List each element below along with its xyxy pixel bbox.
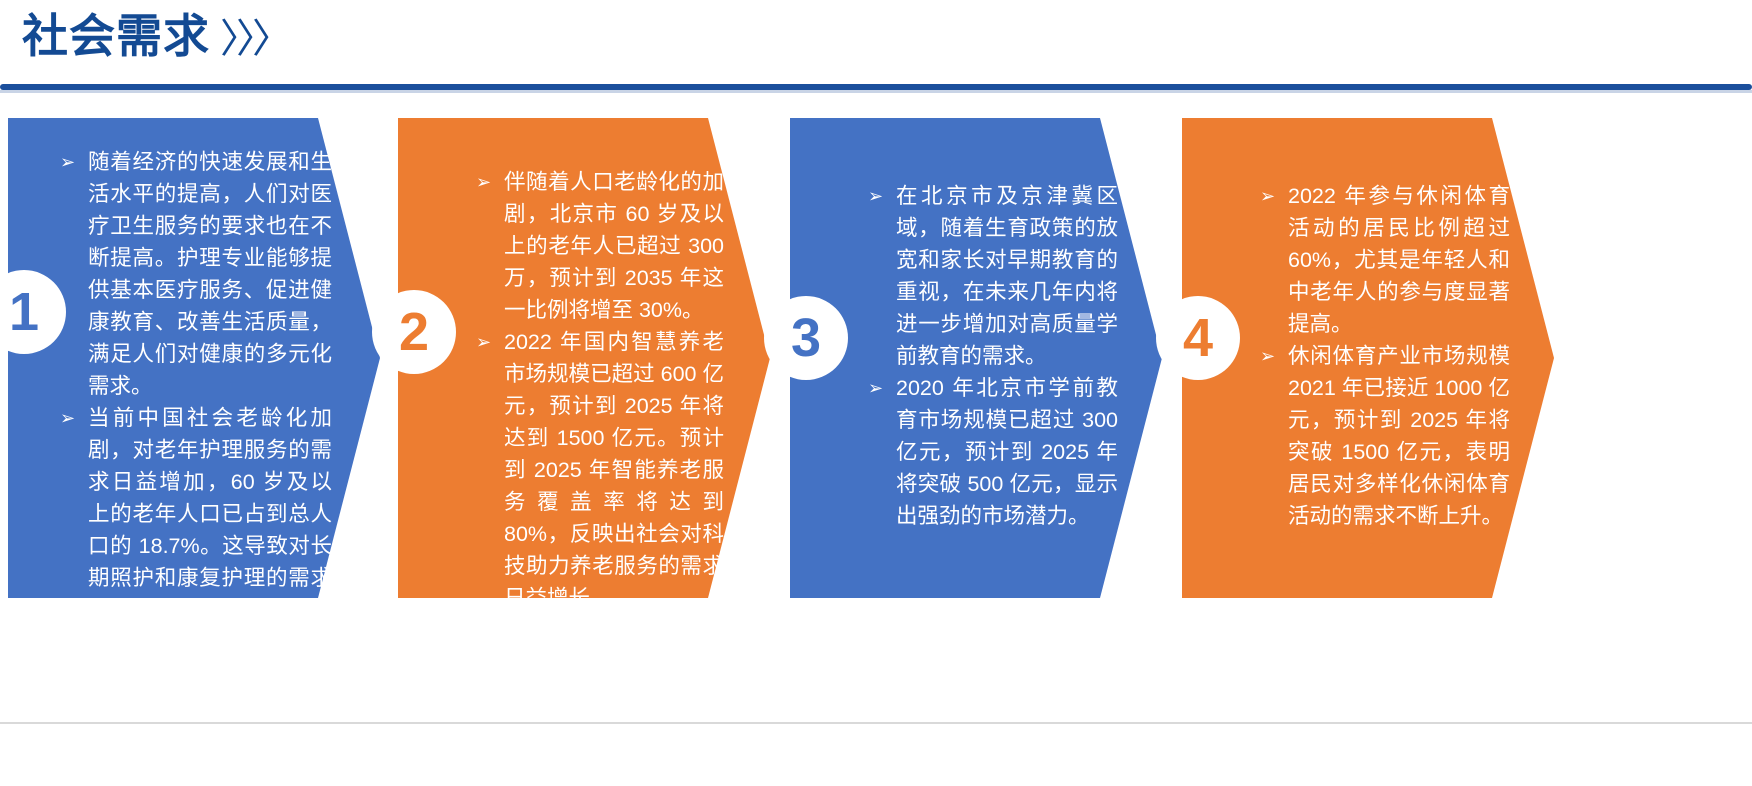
chevron-panel-1[interactable]: ➢随着经济的快速发展和生活水平的提高，人们对医疗卫生服务的要求也在不断提高。护理… — [8, 118, 380, 598]
bullet-text: 2022 年参与休闲体育活动的居民比例超过 60%，尤其是年轻人和中老年人的参与… — [1288, 184, 1510, 336]
bullet-item: ➢当前中国社会老龄化加剧，对老年护理服务的需求日益增加，60 岁及以上的老年人口… — [60, 402, 332, 786]
page-title: 社会需求〉〉〉 — [22, 8, 288, 67]
bullet-item: ➢伴随着人口老龄化的加剧，北京市 60 岁及以上的老年人已超过 300 万，预计… — [476, 166, 724, 326]
page-title-text: 社会需求 — [22, 10, 210, 62]
bullet-item: ➢2020 年北京市学前教育市场规模已超过 300 亿元，预计到 2025 年将… — [868, 372, 1118, 532]
bullet-text: 在北京市及京津冀区域，随着生育政策的放宽和家长对早期教育的重视，在未来几年内将进… — [896, 184, 1118, 368]
chevron-panel-3[interactable]: ➢在北京市及京津冀区域，随着生育政策的放宽和家长对早期教育的重视，在未来几年内将… — [790, 118, 1162, 598]
bullet-item: ➢2022 年国内智慧养老市场规模已超过 600 亿元，预计到 2025 年将达… — [476, 326, 724, 614]
bullet-marker-icon: ➢ — [868, 180, 883, 212]
bullet-marker-icon: ➢ — [1260, 340, 1275, 372]
bullet-text: 当前中国社会老龄化加剧，对老年护理服务的需求日益增加，60 岁及以上的老年人口已… — [88, 406, 332, 782]
chevron-right-icon: 〉〉〉 — [220, 17, 288, 61]
bullet-item: ➢在北京市及京津冀区域，随着生育政策的放宽和家长对早期教育的重视，在未来几年内将… — [868, 180, 1118, 372]
bullet-marker-icon: ➢ — [1260, 180, 1275, 212]
bullet-item: ➢2022 年参与休闲体育活动的居民比例超过 60%，尤其是年轻人和中老年人的参… — [1260, 180, 1510, 340]
bullet-item: ➢休闲体育产业市场规模 2021 年已接近 1000 亿元，预计到 2025 年… — [1260, 340, 1510, 532]
bullet-text: 随着经济的快速发展和生活水平的提高，人们对医疗卫生服务的要求也在不断提高。护理专… — [88, 150, 332, 398]
chevron-panel-2[interactable]: ➢伴随着人口老龄化的加剧，北京市 60 岁及以上的老年人已超过 300 万，预计… — [398, 118, 770, 598]
bullet-text: 伴随着人口老龄化的加剧，北京市 60 岁及以上的老年人已超过 300 万，预计到… — [504, 170, 724, 322]
bullet-marker-icon: ➢ — [476, 166, 491, 198]
panel-4-text: ➢2022 年参与休闲体育活动的居民比例超过 60%，尤其是年轻人和中老年人的参… — [1260, 180, 1510, 532]
bullet-marker-icon: ➢ — [476, 326, 491, 358]
slide-header: 社会需求〉〉〉 — [0, 0, 1752, 100]
chevron-panel-row: ➢随着经济的快速发展和生活水平的提高，人们对医疗卫生服务的要求也在不断提高。护理… — [0, 118, 1752, 688]
title-divider-shadow — [0, 90, 1752, 93]
panel-1-text: ➢随着经济的快速发展和生活水平的提高，人们对医疗卫生服务的要求也在不断提高。护理… — [60, 146, 332, 786]
panel-3-text: ➢在北京市及京津冀区域，随着生育政策的放宽和家长对早期教育的重视，在未来几年内将… — [868, 180, 1118, 532]
bullet-marker-icon: ➢ — [60, 146, 75, 178]
bullet-marker-icon: ➢ — [868, 372, 883, 404]
chevron-panel-4[interactable]: ➢2022 年参与休闲体育活动的居民比例超过 60%，尤其是年轻人和中老年人的参… — [1182, 118, 1554, 598]
bullet-marker-icon: ➢ — [60, 402, 75, 434]
panel-2-text: ➢伴随着人口老龄化的加剧，北京市 60 岁及以上的老年人已超过 300 万，预计… — [476, 166, 724, 614]
bullet-text: 2020 年北京市学前教育市场规模已超过 300 亿元，预计到 2025 年将突… — [896, 376, 1118, 528]
panel-3-number-badge: 3 — [764, 296, 848, 380]
bullet-text: 2022 年国内智慧养老市场规模已超过 600 亿元，预计到 2025 年将达到… — [504, 330, 724, 610]
bullet-text: 休闲体育产业市场规模 2021 年已接近 1000 亿元，预计到 2025 年将… — [1288, 344, 1510, 528]
panel-2-number-badge: 2 — [372, 290, 456, 374]
footer-divider — [0, 722, 1752, 724]
panel-4-number-badge: 4 — [1156, 296, 1240, 380]
bullet-item: ➢随着经济的快速发展和生活水平的提高，人们对医疗卫生服务的要求也在不断提高。护理… — [60, 146, 332, 402]
